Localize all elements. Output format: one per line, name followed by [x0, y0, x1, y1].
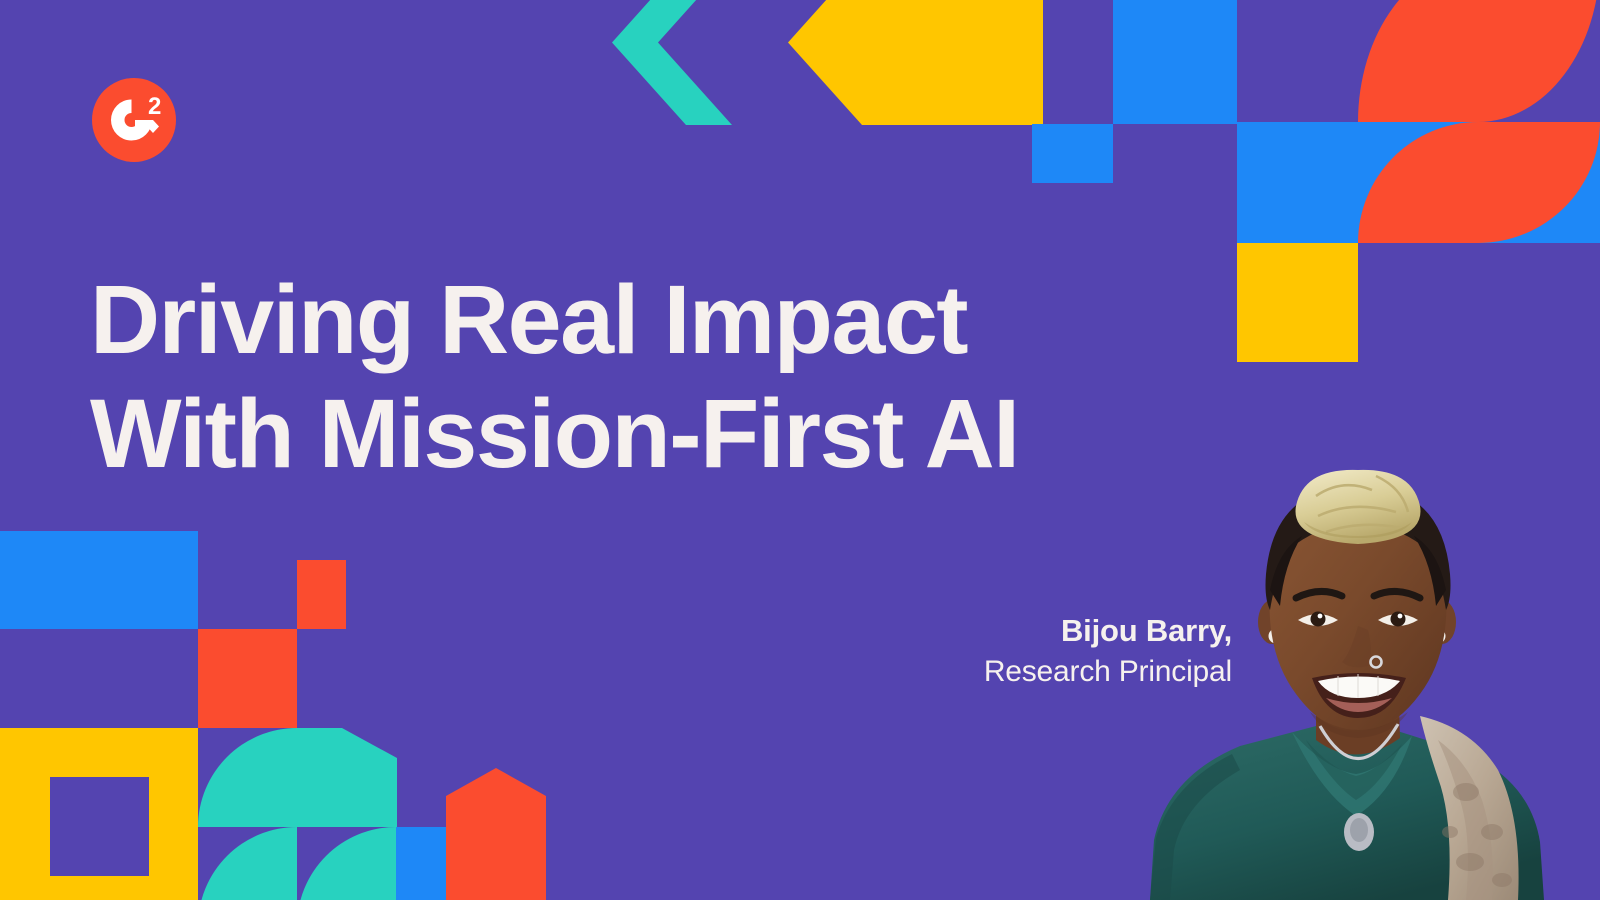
g2-logo-superscript: 2	[148, 93, 161, 120]
decor-block-blue-small	[1032, 124, 1113, 183]
pentagon-red-icon	[446, 768, 546, 900]
flower-petal-bottom-left	[198, 827, 297, 900]
flower-petal-top-left	[198, 728, 297, 827]
slide-canvas: 2 Driving Real Impact With Mission-First…	[0, 0, 1600, 900]
flower-petal-bottom-right	[297, 827, 396, 900]
flower-wedge-teal	[297, 728, 397, 827]
page-title: Driving Real Impact With Mission-First A…	[90, 263, 1210, 491]
chevron-left-teal-icon	[612, 0, 732, 125]
decor-block-blue-bottomleft	[0, 531, 198, 629]
speaker-portrait	[1120, 440, 1600, 900]
speaker-portrait-image	[1120, 440, 1600, 900]
decor-block-yellow-top	[1237, 243, 1358, 362]
g2-logo-mark-icon: 2	[92, 78, 176, 162]
decor-square-hole-purple	[50, 777, 149, 876]
decor-block-red-small	[297, 560, 346, 629]
pinwheel-petal-top-right	[1478, 0, 1600, 122]
chevron-left-yellow-icon	[788, 0, 1043, 125]
decor-block-blue-top	[1113, 0, 1237, 124]
pinwheel-petal-top-left	[1358, 0, 1478, 122]
g2-logo[interactable]: 2	[92, 78, 176, 162]
decor-block-red-square	[198, 629, 297, 728]
decor-block-blue-bottom	[396, 827, 450, 900]
